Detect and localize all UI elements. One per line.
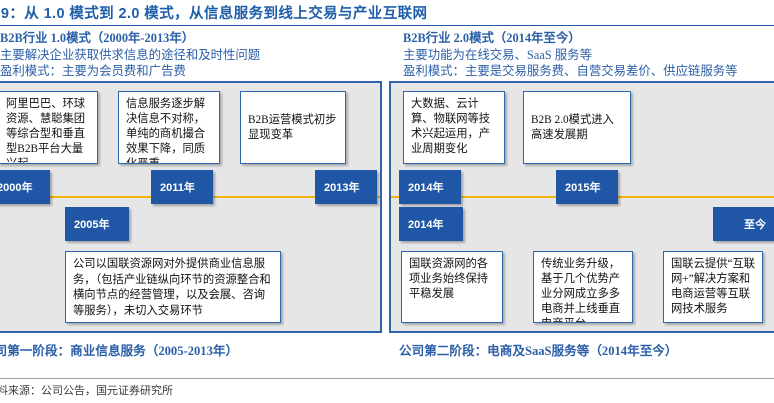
- card-industry-1: 阿里巴巴、环球资源、慧聪集团等综合型和垂直型B2B平台大量兴起: [0, 91, 98, 164]
- year-badge-2011: 2011年: [151, 170, 213, 204]
- panel-right-body: 大数据、云计算、物联网等技术兴起运用，产业周期变化 B2B 2.0模式进入高速发…: [389, 81, 774, 333]
- year-badge-2014-industry: 2014年: [399, 170, 461, 204]
- panel-left-header: B2B行业 1.0模式（2000年-2013年） 主要解决企业获取供求信息的途径…: [0, 28, 382, 80]
- card-company-phase-2c: 国联云提供“互联网+”解决方案和电商运营等互联网技术服务: [663, 251, 763, 323]
- figure-title: 图9：从 1.0 模式到 2.0 模式，从信息服务到线上交易与产业互联网: [0, 2, 774, 23]
- title-divider: [0, 25, 774, 26]
- year-badge-2015: 2015年: [556, 170, 618, 204]
- panel-b2b-1-0: B2B行业 1.0模式（2000年-2013年） 主要解决企业获取供求信息的途径…: [0, 28, 382, 358]
- card-industry-4: 大数据、云计算、物联网等技术兴起运用，产业周期变化: [403, 91, 505, 164]
- card-company-phase-2b: 传统业务升级，基于几个优势产业分网成立多多电商并上线垂直电商平台: [533, 251, 633, 323]
- panel-left-header-line-2: 主要解决企业获取供求信息的途径和及时性问题: [0, 47, 382, 64]
- panel-left-caption: 公司第一阶段：商业信息服务（2005-2013年）: [0, 340, 238, 359]
- card-industry-5: B2B 2.0模式进入高速发展期: [523, 91, 631, 164]
- year-badge-2014-company: 2014年: [399, 207, 463, 241]
- footer-divider: [0, 378, 774, 379]
- card-industry-3: B2B运营模式初步显现变革: [240, 91, 346, 164]
- year-badge-present: 至今: [713, 207, 774, 241]
- panel-right-header-line-2: 主要功能为在线交易、SaaS 服务等: [403, 47, 774, 64]
- panel-right-header-line-3: 盈利模式：主要是交易服务费、自营交易差价、供应链服务等: [403, 63, 774, 80]
- card-company-phase-2a: 国联资源网的各项业务始终保持平稳发展: [401, 251, 503, 323]
- source-note: 资料来源：公司公告，国元证券研究所: [0, 382, 173, 398]
- panel-right-header: B2B行业 2.0模式（2014年至今） 主要功能为在线交易、SaaS 服务等 …: [389, 28, 774, 80]
- year-badge-2005: 2005年: [65, 207, 129, 241]
- panel-left-header-line-3: 盈利模式：主要为会员费和广告费: [0, 63, 382, 80]
- year-badge-2013: 2013年: [315, 170, 377, 204]
- panel-left-header-line-1: B2B行业 1.0模式（2000年-2013年）: [0, 30, 382, 47]
- panel-left-body: 阿里巴巴、环球资源、慧聪集团等综合型和垂直型B2B平台大量兴起 信息服务逐步解决…: [0, 81, 382, 333]
- card-industry-2: 信息服务逐步解决信息不对称，单纯的商机撮合效果下降，同质化严重: [118, 91, 220, 164]
- panel-right-caption: 公司第二阶段：电商及SaaS服务等（2014年至今）: [399, 340, 677, 359]
- panel-right-header-line-1: B2B行业 2.0模式（2014年至今）: [403, 30, 774, 47]
- card-company-phase-1: 公司以国联资源网对外提供商业信息服务，（包括产业链纵向环节的资源整合和横向节点的…: [65, 251, 281, 323]
- year-badge-2000: 2000年: [0, 170, 50, 204]
- panel-b2b-2-0: B2B行业 2.0模式（2014年至今） 主要功能为在线交易、SaaS 服务等 …: [389, 28, 774, 358]
